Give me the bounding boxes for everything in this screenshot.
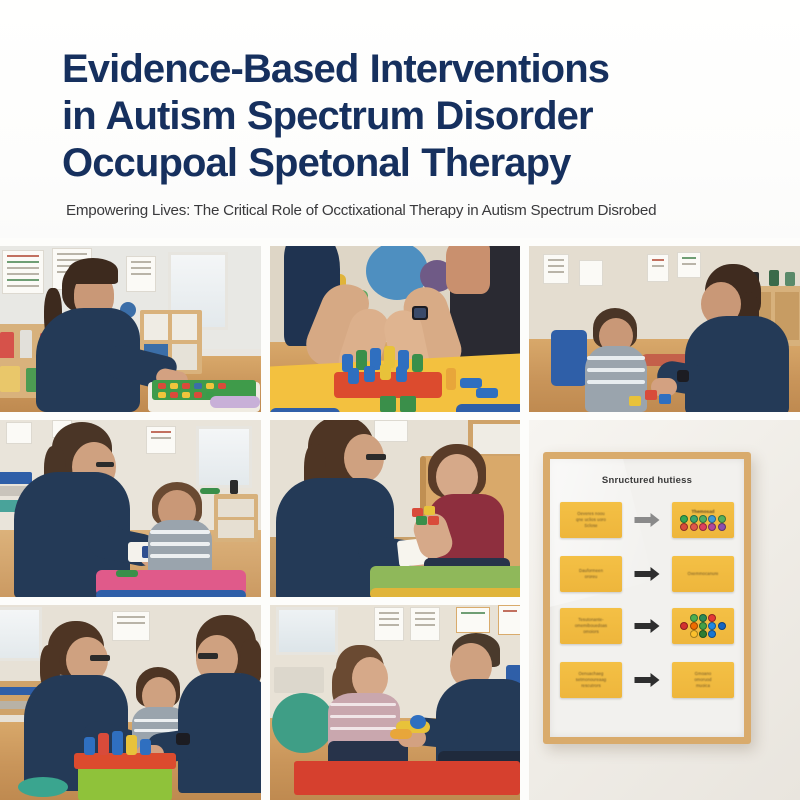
arrow-right-icon [635,673,660,687]
card-line: Sclose [584,523,597,529]
photo-grid: Snructured hutiess Oeveres noou qne ucli… [0,238,800,800]
poster-row-3-left-card: Tesutonante- omemibouedoas omoiors [560,608,622,644]
poster-row-4-right-card: Gmoano omoruod muoica [672,662,734,698]
poster-frame: Snructured hutiess Oeveres noou qne ucli… [543,452,751,744]
card-line: omoiors [583,629,599,635]
poster-row-1-right-card: Themosad [672,502,734,538]
card-line: muoica [696,683,710,689]
pictogram-row [675,515,731,523]
poster-row-3-right-card [672,608,734,644]
pictogram-row [675,523,731,531]
card-line: Oxemmocanure [688,571,719,577]
title-line-1: Evidence-Based Interventions [62,46,740,93]
photo-7 [0,605,261,800]
pictogram-row [675,614,731,622]
card-title: Themosad [692,509,715,514]
poster-row-1: Oeveres noou qne uclios uoro Sclose Them… [560,499,734,541]
pictogram-row [675,622,731,630]
infographic-poster: Evidence-Based Interventions in Autism S… [0,0,800,800]
poster-board: Snructured hutiess Oeveres noou qne ucli… [550,459,744,737]
title-line-3: Occupoal Spetonal Therapy [62,140,740,187]
pictogram-row [675,630,731,638]
poster-row-3: Tesutonante- omemibouedoas omoiors [560,605,734,647]
arrow-right-icon [635,619,660,633]
page-title: Evidence-Based Interventions in Autism S… [62,46,740,187]
poster-row-4-left-card: Oenuachaeg setmonoureaag rescutrors [560,662,622,698]
card-line: rescutrors [581,683,601,689]
page-subtitle: Empowering Lives: The Critical Role of O… [66,201,740,221]
photo-8 [270,605,520,800]
poster-row-2-left-card: Dauformeen ororeu [560,556,622,592]
photo-3 [529,246,800,412]
card-line: ororeu [585,574,598,580]
poster-row-4: Oenuachaeg setmonoureaag rescutrors Gmoa… [560,659,734,701]
photo-1 [0,246,261,412]
title-line-2: in Autism Spectrum Disorder [62,93,740,140]
poster-row-1-left-card: Oeveres noou qne uclios uoro Sclose [560,502,622,538]
poster-header: Evidence-Based Interventions in Autism S… [0,0,800,238]
arrow-right-icon [635,567,660,581]
arrow-right-icon [635,513,660,527]
photo-5 [270,420,520,597]
poster-row-2-right-card: Oxemmocanure [672,556,734,592]
poster-row-2: Dauformeen ororeu Oxemmocanure [560,553,734,595]
photo-4 [0,420,261,597]
photo-2 [270,246,520,412]
photo-6-framed-poster: Snructured hutiess Oeveres noou qne ucli… [529,420,800,800]
poster-heading: Snructured hutiess [550,475,744,486]
